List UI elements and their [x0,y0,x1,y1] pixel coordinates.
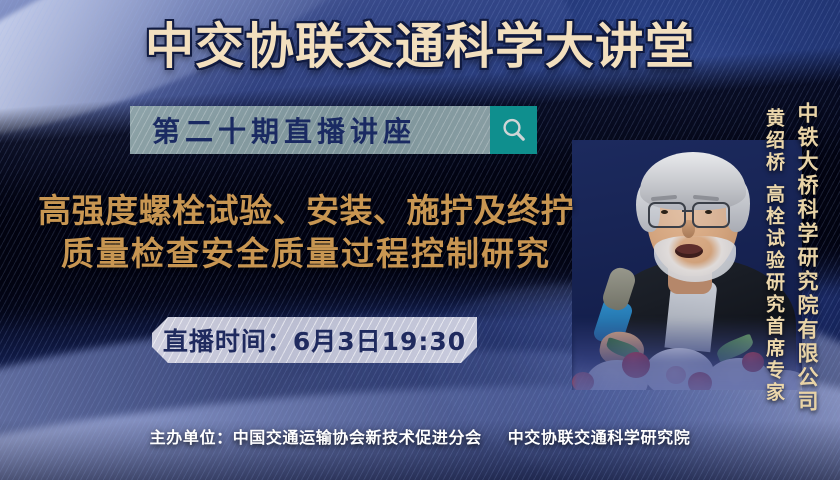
glasses-bridge [682,210,694,212]
headline-line-2: 质量检查安全质量过程控制研究 [0,233,612,276]
speaker-organization: 中铁大桥科学研究院有限公司 [792,102,822,414]
speaker-mouth [675,244,703,258]
glasses-lens-left-icon [648,202,686,228]
broadcast-time-text: 直播时间：6月3日19:30 [152,317,477,363]
footer-organizer-1: 中国交通运输协会新技术促进分会 [233,428,482,447]
search-icon-tile[interactable] [490,106,537,154]
subtitle-band: 第二十期直播讲座 [130,106,537,154]
headline-line-1: 高强度螺栓试验、安装、施拧及终拧 [38,191,574,230]
speaker-name-title: 黄绍桥 高栓试验研究首席专家 [761,108,788,404]
speaker-eye-right [705,210,712,214]
glasses-lens-right-icon [692,202,730,228]
speaker-eye-left [661,210,668,214]
footer-organizer-label: 主办单位： [150,428,233,447]
broadcast-time-pill: 直播时间：6月3日19:30 [152,317,477,363]
footer-organizers: 主办单位：中国交通运输协会新技术促进分会中交协联交通科学研究院 [0,424,840,448]
footer-organizer-2: 中交协联交通科学研究院 [508,428,691,447]
subtitle-text: 第二十期直播讲座 [152,106,416,154]
headline: 高强度螺栓试验、安装、施拧及终拧 质量检查安全质量过程控制研究 [0,190,612,276]
main-title: 中交协联交通科学大讲堂 [0,22,840,71]
poster-canvas: 中交协联交通科学大讲堂 第二十期直播讲座 高强度螺栓试验、安装、施拧及终拧 质量… [0,0,840,480]
search-icon [500,116,528,144]
